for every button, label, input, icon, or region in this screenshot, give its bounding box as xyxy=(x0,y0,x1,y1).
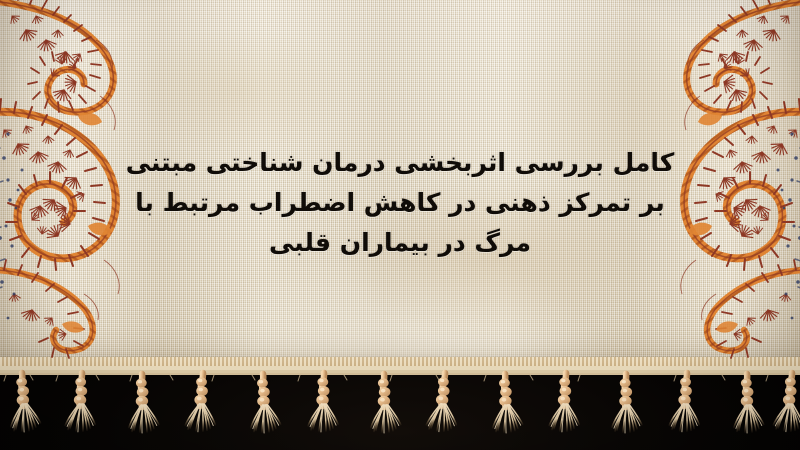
embroidered-cloth xyxy=(0,0,800,372)
cloth-hem xyxy=(0,357,800,372)
slide-canvas: کامل بررسی اثربخشی درمان شناختی مبتنی بر… xyxy=(0,0,800,450)
cloth-drape-shading xyxy=(0,0,800,372)
